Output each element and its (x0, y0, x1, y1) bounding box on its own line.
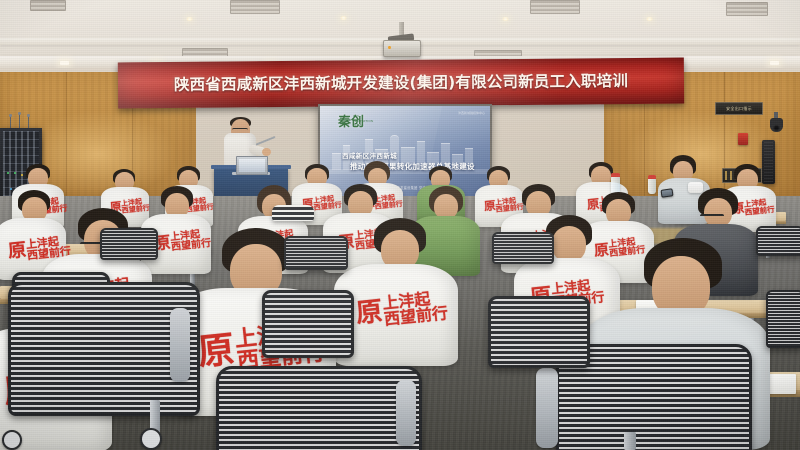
ac-vent (30, 0, 66, 11)
presenter-laptop (236, 156, 268, 175)
ac-vent (230, 0, 280, 14)
downlight (186, 17, 193, 21)
ac-vent (726, 2, 768, 16)
smartphone[interactable] (661, 188, 674, 198)
chair-armrest[interactable] (396, 380, 416, 446)
office-chair-back[interactable] (284, 236, 348, 270)
chair-post (624, 432, 636, 450)
downlight (502, 17, 509, 21)
chair-armrest[interactable] (536, 368, 558, 448)
office-chair-back[interactable] (262, 290, 354, 358)
wall-sign-label: 安全出口指示 (716, 103, 762, 114)
face-mask (688, 182, 703, 193)
office-chair-back[interactable] (756, 226, 800, 256)
downlight (770, 61, 779, 65)
downlight (60, 61, 69, 65)
office-chair-back[interactable] (766, 290, 800, 348)
chair-caster (140, 428, 162, 450)
chair-armrest[interactable] (170, 308, 190, 382)
chair-caster (2, 430, 22, 450)
training-room-photo: 安全出口指示 陕西省西咸新区沣西新城开发建设(集团)有限公司新员工入职培训 (0, 0, 800, 450)
slide-logo: 秦创 QIN INNOVATION PLAZA (338, 111, 378, 128)
wall-sign-plate: 安全出口指示 (715, 102, 763, 115)
striped-bag (272, 205, 314, 221)
antenna-icon (19, 114, 20, 128)
slide-logo-sub: QIN INNOVATION PLAZA (353, 114, 378, 128)
office-chair-back[interactable] (216, 366, 422, 450)
slide-corner-note: 沣西新城融媒体中心 (458, 111, 485, 115)
slide-headline-1: 西咸新区沣西新城 (342, 150, 490, 160)
water-bottle (648, 178, 656, 194)
glasses-icon (700, 214, 724, 220)
banner-text: 陕西省西咸新区沣西新城开发建设(集团)有限公司新员工入职培训 (118, 69, 684, 96)
security-camera (770, 118, 783, 132)
projection-screen: 秦创 QIN INNOVATION PLAZA 沣西新城融媒体中心 西咸新区沣西… (320, 106, 490, 196)
office-chair-back[interactable] (488, 296, 590, 368)
fire-alarm-icon[interactable] (738, 133, 748, 145)
office-chair-back[interactable] (100, 228, 158, 260)
downlight (646, 17, 653, 21)
ac-vent (530, 0, 580, 14)
office-chair-back[interactable] (492, 232, 554, 264)
presenter-hand (262, 148, 271, 156)
event-banner: 陕西省西咸新区沣西新城开发建设(集团)有限公司新员工入职培训 (118, 58, 684, 109)
downlight (340, 16, 347, 20)
wall-speaker (762, 140, 775, 184)
ceiling-projector (383, 40, 421, 57)
projection-screen-frame: 秦创 QIN INNOVATION PLAZA 沣西新城融媒体中心 西咸新区沣西… (318, 104, 492, 198)
